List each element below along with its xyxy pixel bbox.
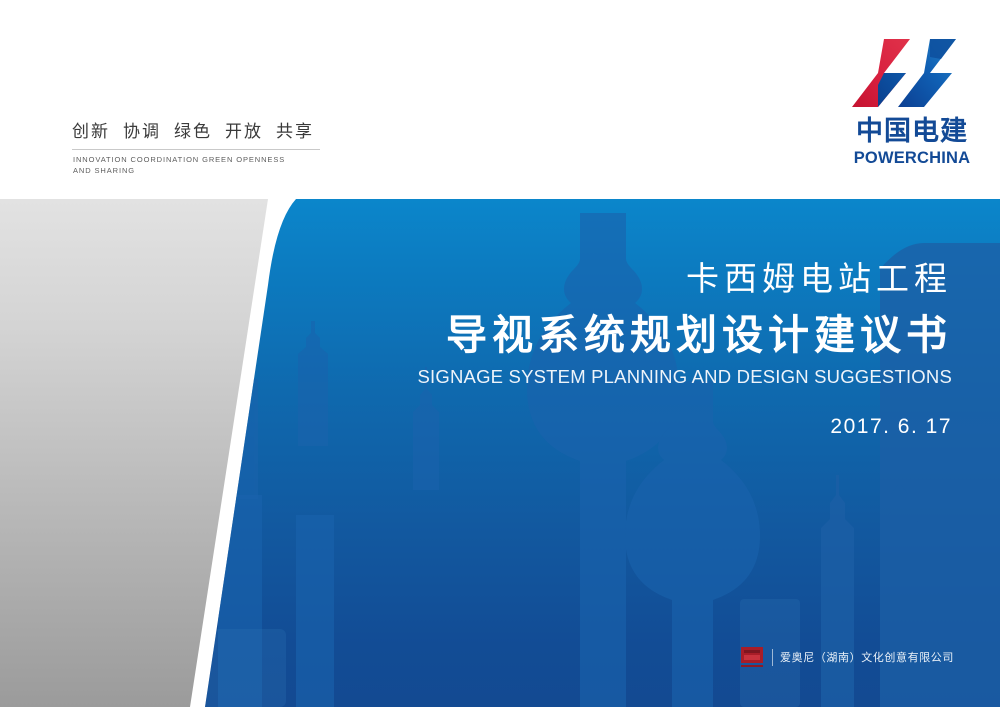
document-title-cn: 导视系统规划设计建议书 [252,307,952,363]
powerchina-logo-mark-icon [848,33,976,113]
slogan-block: 创新协调绿色开放共享 INNOVATION COORDINATION GREEN… [72,124,327,141]
cover-title-block: 卡西姆电站工程 导视系统规划设计建议书 SIGNAGE SYSTEM PLANN… [252,257,952,441]
cover-stage: 卡西姆电站工程 导视系统规划设计建议书 SIGNAGE SYSTEM PLANN… [0,199,1000,707]
cover-date: 2017. 6. 17 [252,413,952,441]
document-title-en: SIGNAGE SYSTEM PLANNING AND DESIGN SUGGE… [252,365,952,389]
powerchina-name-en: POWERCHINA [838,149,986,167]
credit-divider [772,649,773,666]
credit-company-name: 爱奥尼（湖南）文化创意有限公司 [780,649,954,665]
slogan-word-3: 绿色 [174,122,212,142]
powerchina-logo: 中国电建 POWERCHINA [838,33,986,178]
slogan-english-line2: AND SHARING [73,165,285,176]
header-band: 创新协调绿色开放共享 INNOVATION COORDINATION GREEN… [0,0,1000,200]
powerchina-name-cn: 中国电建 [838,117,986,147]
project-title-cn: 卡西姆电站工程 [252,257,952,301]
slogan-chinese: 创新协调绿色开放共享 [72,124,327,141]
slogan-word-1: 创新 [72,122,110,142]
slogan-english: INNOVATION COORDINATION GREEN OPENNESS A… [73,154,285,176]
credit-block: 爱奥尼（湖南）文化创意有限公司 [739,645,954,669]
slogan-word-2: 协调 [123,122,161,142]
slogan-english-line1: INNOVATION COORDINATION GREEN OPENNESS [73,154,285,165]
cover-slide: 创新协调绿色开放共享 INNOVATION COORDINATION GREEN… [0,0,1000,707]
ionic-company-logo-icon [739,645,765,669]
slogan-divider [72,149,320,150]
slogan-word-5: 共享 [276,122,314,142]
slogan-word-4: 开放 [225,122,263,142]
